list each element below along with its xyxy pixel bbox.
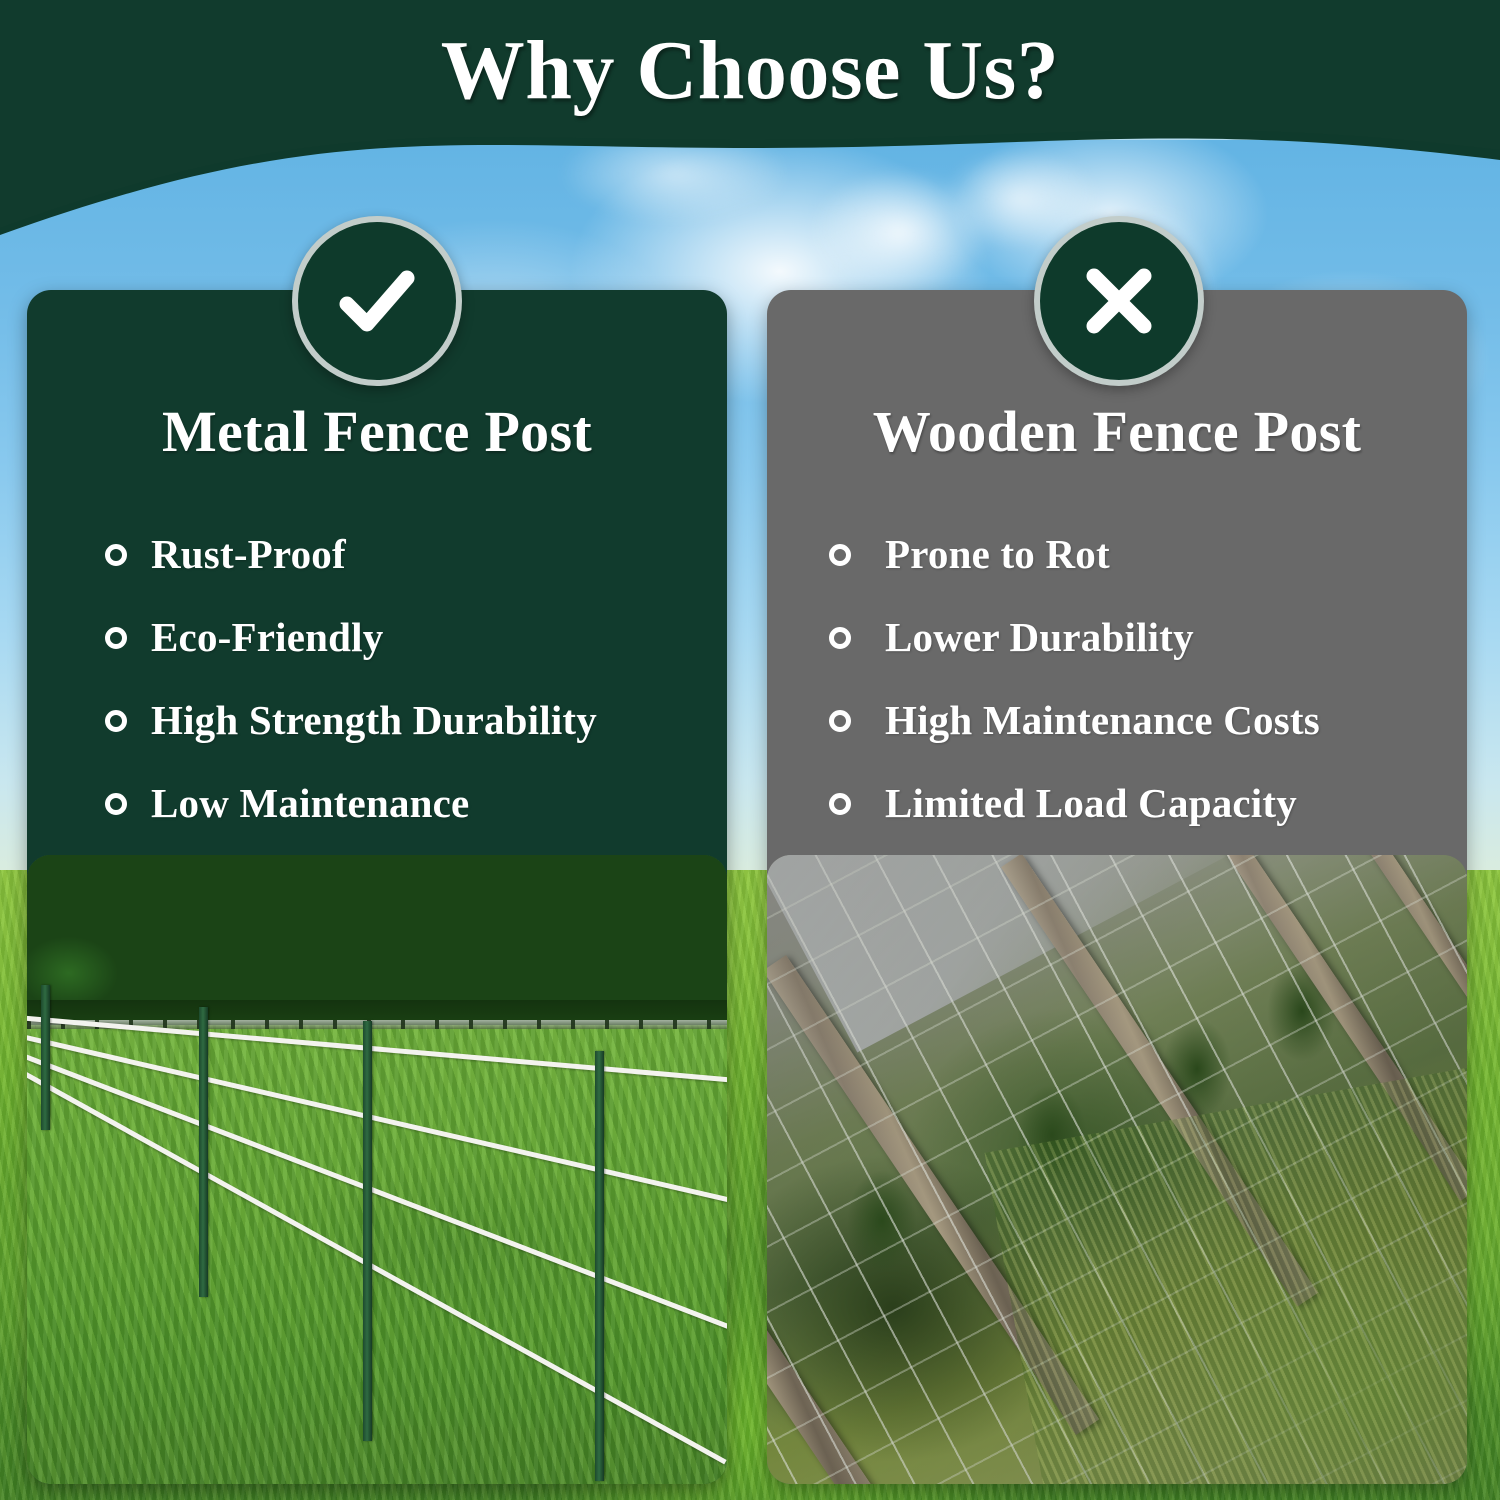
bullet-ring-icon (829, 627, 851, 649)
photo-vignette (767, 855, 1467, 1484)
bullet-ring-icon (105, 793, 127, 815)
metal-t-post (41, 985, 50, 1130)
list-item: Eco-Friendly (27, 595, 727, 678)
metal-t-post (199, 1007, 208, 1297)
photo-treeline (27, 855, 727, 1019)
list-item: High Strength Durability (27, 678, 727, 761)
feature-label: Limited Load Capacity (885, 779, 1297, 827)
badge-positive (292, 216, 462, 386)
photo-metal-fence (27, 855, 727, 1484)
feature-label: Eco-Friendly (151, 613, 383, 661)
bullet-ring-icon (829, 710, 851, 732)
infographic-canvas: Why Choose Us? Metal Fence Post Rust-Pro… (0, 0, 1500, 1500)
metal-t-post (363, 1021, 372, 1441)
comparison-card-wooden: Wooden Fence Post Prone to Rot Lower Dur… (767, 290, 1467, 1484)
list-item: High Maintenance Costs (767, 678, 1467, 761)
check-icon (327, 251, 427, 351)
list-item: Limited Load Capacity (767, 761, 1467, 844)
feature-label: Low Maintenance (151, 779, 469, 827)
metal-t-post (595, 1051, 604, 1481)
bullet-ring-icon (105, 544, 127, 566)
feature-list-wooden: Prone to Rot Lower Durability High Maint… (767, 512, 1467, 844)
bullet-ring-icon (105, 627, 127, 649)
badge-negative (1034, 216, 1204, 386)
bullet-ring-icon (105, 710, 127, 732)
card-title-metal: Metal Fence Post (27, 398, 727, 465)
feature-list-metal: Rust-Proof Eco-Friendly High Strength Du… (27, 512, 727, 844)
feature-label: Lower Durability (885, 613, 1194, 661)
photo-grass-field (27, 1025, 727, 1484)
page-title: Why Choose Us? (0, 27, 1500, 115)
feature-label: Rust-Proof (151, 530, 346, 578)
list-item: Rust-Proof (27, 512, 727, 595)
list-item: Prone to Rot (767, 512, 1467, 595)
feature-label: High Strength Durability (151, 696, 597, 744)
feature-label: High Maintenance Costs (885, 696, 1320, 744)
cross-icon (1076, 258, 1162, 344)
feature-label: Prone to Rot (885, 530, 1110, 578)
bullet-ring-icon (829, 544, 851, 566)
list-item: Low Maintenance (27, 761, 727, 844)
comparison-card-metal: Metal Fence Post Rust-Proof Eco-Friendly… (27, 290, 727, 1484)
card-title-wooden: Wooden Fence Post (767, 398, 1467, 465)
photo-wooden-fence (767, 855, 1467, 1484)
list-item: Lower Durability (767, 595, 1467, 678)
bullet-ring-icon (829, 793, 851, 815)
